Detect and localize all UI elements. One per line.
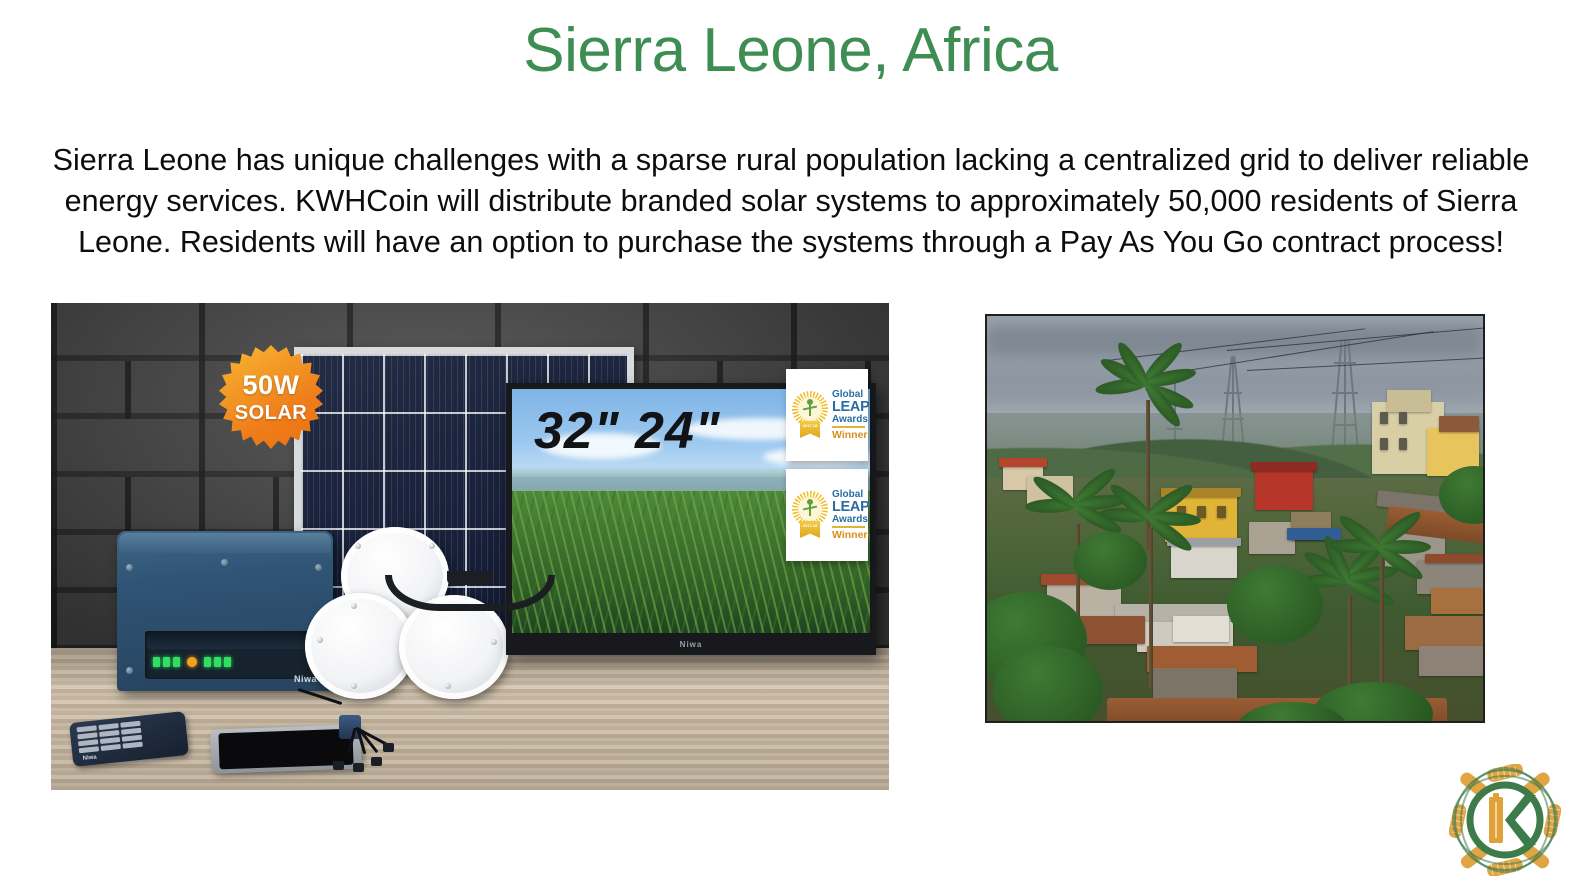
charging-cable-set bbox=[297, 695, 417, 775]
window bbox=[1380, 438, 1388, 450]
location-photo bbox=[985, 314, 1485, 723]
window bbox=[1399, 412, 1407, 424]
award-badge: 2017-18 Global LEAP Awards Winner bbox=[786, 469, 868, 561]
award-org-line2: LEAP bbox=[832, 500, 869, 515]
remote-brand-label: Niwa bbox=[83, 754, 98, 761]
tv-brand-label: Niwa bbox=[680, 640, 703, 649]
lamp-screw-icon bbox=[351, 603, 357, 609]
led-green-icon bbox=[153, 657, 160, 667]
cable-connector bbox=[371, 757, 382, 766]
sunburst-award-icon: 2017-18 bbox=[790, 491, 830, 539]
lamp-screw-icon bbox=[445, 683, 451, 689]
led-amber-icon bbox=[187, 657, 197, 667]
screw-icon bbox=[126, 667, 133, 674]
slide-canvas: Sierra Leone, Africa Sierra Leone has un… bbox=[0, 0, 1581, 883]
palm-tree bbox=[1317, 526, 1447, 706]
screw-icon bbox=[315, 564, 322, 571]
battery-box: Niwa bbox=[117, 531, 333, 691]
logo-battery-icon bbox=[1489, 793, 1503, 843]
led-green-icon bbox=[204, 657, 211, 667]
body-paragraph: Sierra Leone has unique challenges with … bbox=[18, 140, 1564, 263]
window bbox=[1380, 412, 1388, 424]
roof bbox=[999, 458, 1047, 467]
badge-type-label: SOLAR bbox=[235, 403, 308, 423]
tv-size-label: 32" 24" bbox=[534, 401, 720, 461]
remote-keypad bbox=[77, 721, 143, 754]
building bbox=[1387, 390, 1431, 412]
lamp-screw-icon bbox=[491, 639, 497, 645]
award-status: Winner bbox=[832, 530, 869, 541]
screw-icon bbox=[221, 559, 228, 566]
cable-connector bbox=[333, 761, 344, 770]
cable-connector bbox=[383, 743, 394, 752]
award-org-line2: LEAP bbox=[832, 400, 869, 415]
cable-connector bbox=[353, 763, 364, 772]
badge-watts-label: 50W bbox=[242, 372, 299, 399]
led-green-icon bbox=[224, 657, 231, 667]
battery-handle bbox=[147, 631, 321, 649]
award-divider bbox=[832, 526, 865, 528]
lamp-screw-icon bbox=[429, 543, 435, 549]
award-org-line3: Awards bbox=[832, 415, 869, 425]
building bbox=[1255, 468, 1313, 510]
lamp-screw-icon bbox=[355, 543, 361, 549]
battery-led-indicators bbox=[153, 657, 231, 667]
screw-icon bbox=[126, 564, 133, 571]
lamp-screw-icon bbox=[317, 637, 323, 643]
battery-box-lid bbox=[119, 533, 331, 553]
award-ribbon-year: 2017-18 bbox=[801, 423, 819, 428]
window bbox=[1217, 506, 1226, 518]
page-title: Sierra Leone, Africa bbox=[0, 12, 1581, 90]
award-status: Winner bbox=[832, 430, 869, 441]
sunburst-award-icon: 2017-18 bbox=[790, 391, 830, 439]
product-photo: 50W SOLAR Niwa bbox=[51, 303, 889, 790]
roof bbox=[1439, 416, 1479, 432]
foliage bbox=[1073, 532, 1147, 590]
kwhcoin-logo bbox=[1449, 764, 1561, 876]
lamp-screw-icon bbox=[351, 683, 357, 689]
roof bbox=[1251, 462, 1317, 471]
led-green-icon bbox=[173, 657, 180, 667]
window bbox=[1399, 438, 1407, 450]
foliage bbox=[1227, 566, 1323, 644]
led-green-icon bbox=[163, 657, 170, 667]
palm-tree bbox=[1099, 498, 1203, 688]
led-green-icon bbox=[214, 657, 221, 667]
award-divider bbox=[832, 426, 865, 428]
award-ribbon-year: 2017-18 bbox=[801, 523, 819, 528]
award-badge: 2017-18 Global LEAP Awards Winner bbox=[786, 369, 868, 461]
award-org-line3: Awards bbox=[832, 515, 869, 525]
